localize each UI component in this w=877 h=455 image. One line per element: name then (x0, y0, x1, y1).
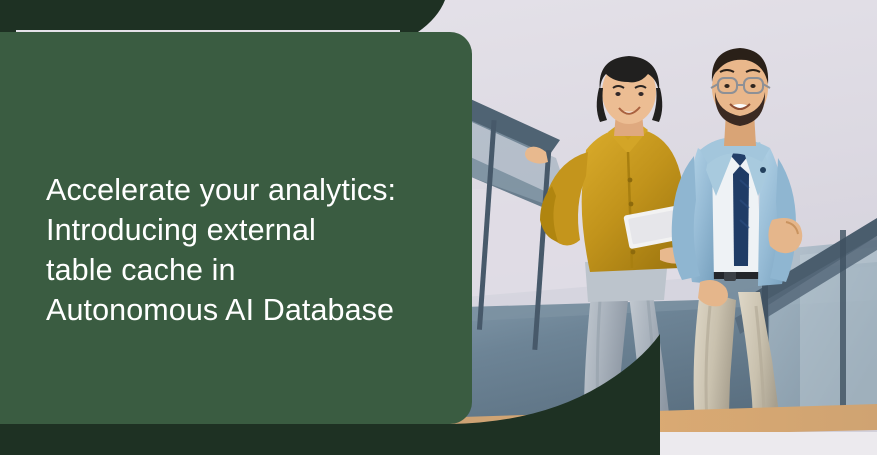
page-title: Accelerate your analytics: Introducing e… (46, 170, 446, 330)
headline-panel: Accelerate your analytics: Introducing e… (0, 32, 472, 424)
promo-banner: Accelerate your analytics: Introducing e… (0, 0, 877, 455)
